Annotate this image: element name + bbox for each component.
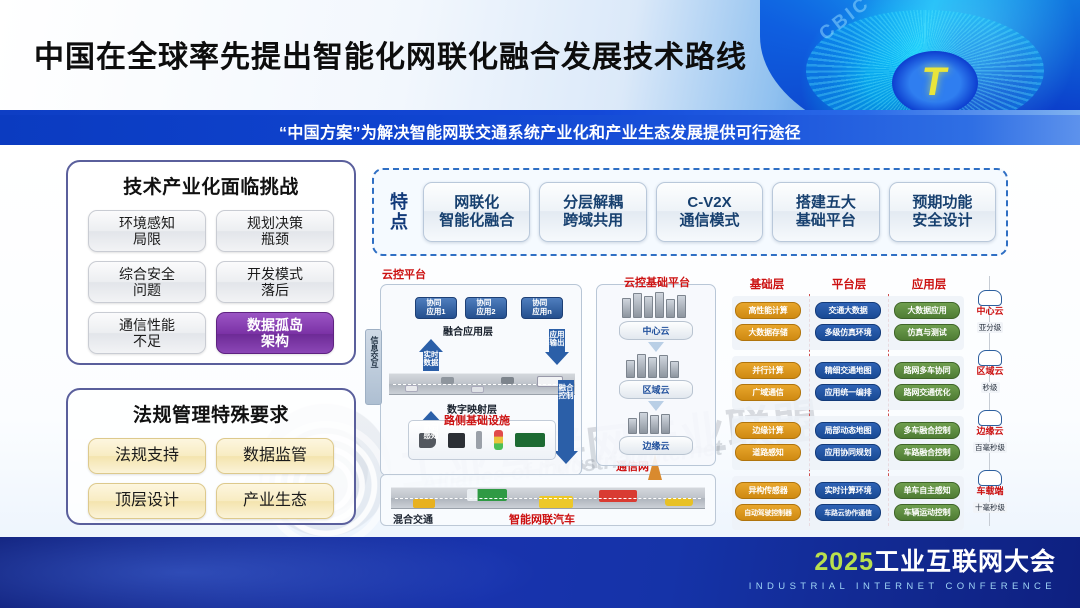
cell-platform: 应用协同规划	[815, 444, 881, 461]
cell-platform: 精细交通地图	[815, 362, 881, 379]
arrow-app-output-label: 应用输出	[545, 331, 569, 348]
cell-application: 路网多车协同	[894, 362, 960, 379]
challenge-chip[interactable]: 规划决策瓶颈	[216, 210, 334, 252]
label-mixed-traffic: 混合交通	[393, 511, 433, 526]
chip-label: 环境感知局限	[119, 215, 175, 247]
chip-label: 产业生态	[243, 492, 307, 510]
layer-capability-table: 基础层 平台层 应用层 高性能计算 大数据存储 交通大数据 多级仿真环境 大数据…	[732, 276, 964, 526]
feature-line1: 网联化	[454, 194, 499, 212]
arrow-collab-sense-label: 协同感知	[419, 424, 443, 441]
cell-application: 多车融合控制	[894, 422, 960, 439]
collab-app-box[interactable]: 协同应用1	[415, 297, 457, 319]
rail-latency: 百毫秒级	[973, 442, 1007, 453]
digital-map-road	[389, 373, 575, 395]
label-cloud-platform: 云控平台	[382, 266, 426, 282]
cell-platform: 车路云协作通信	[815, 504, 881, 521]
bus-icon	[539, 496, 573, 508]
panel-a-title: 技术产业化面临挑战	[68, 172, 354, 199]
regulation-chip[interactable]: 法规支持	[88, 438, 206, 474]
feature-line1: 搭建五大	[796, 194, 856, 212]
cell-base: 广域通信	[735, 384, 801, 401]
table-header-application: 应用层	[894, 276, 964, 292]
feature-strip: 特点 网联化 智能化融合 分层解耦 跨域共用 C-V2X 通信模式 搭建五大 基…	[372, 168, 1008, 256]
arrow-realtime-data-label: 实时数据	[419, 351, 443, 368]
challenge-chip[interactable]: 环境感知局限	[88, 210, 206, 252]
feature-box[interactable]: C-V2X 通信模式	[656, 182, 763, 242]
vehicle-icon	[501, 377, 514, 384]
feature-line1: 预期功能	[912, 194, 972, 212]
server-stack-icon	[622, 292, 686, 318]
radar-icon	[448, 433, 465, 448]
table-row: 边缘计算 道路感知 局部动态地图 应用协同规划 多车融合控制 车路融合控制	[732, 416, 964, 470]
table-row: 高性能计算 大数据存储 交通大数据 多级仿真环境 大数据应用 仿真与测试	[732, 296, 964, 350]
regulation-chip[interactable]: 顶层设计	[88, 483, 206, 519]
vehicle-icon	[471, 386, 484, 393]
page-title: 中国在全球率先提出智能化网联化融合发展技术路线	[34, 32, 747, 76]
panel-b-title: 法规管理特殊要求	[68, 400, 354, 427]
feature-line2: 安全设计	[912, 212, 972, 230]
rsu-antenna-icon	[476, 431, 482, 449]
cell-platform: 应用统一编排	[815, 384, 881, 401]
cell-base: 高性能计算	[735, 302, 801, 319]
feature-box[interactable]: 网联化 智能化融合	[423, 182, 530, 242]
cell-application: 车辆运动控制	[894, 504, 960, 521]
cell-platform: 交通大数据	[815, 302, 881, 319]
rail-name: 中心云	[972, 307, 1008, 317]
cell-base: 异构传感器	[735, 482, 801, 499]
chip-label: 开发模式落后	[247, 266, 303, 298]
chip-label: 法规支持	[115, 447, 179, 465]
feature-line1: 分层解耦	[563, 194, 623, 212]
cloud-center-icon	[978, 290, 1002, 306]
label-cloud-base-platform: 云控基础平台	[624, 274, 690, 290]
cell-base: 大数据存储	[735, 324, 801, 341]
table-header-platform: 平台层	[814, 276, 884, 292]
vehicle-icon	[441, 377, 454, 384]
vehicle-icon	[405, 385, 418, 392]
rail-item-vehicle-terminal[interactable]: 车载端 十毫秒级	[972, 470, 1008, 515]
rail-name: 边缘云	[972, 427, 1008, 437]
cell-application: 车路融合控制	[894, 444, 960, 461]
vms-board-icon	[515, 433, 545, 447]
conference-name-cn: 工业互联网大会	[874, 548, 1056, 576]
down-arrow-icon	[648, 342, 664, 352]
vehicle-icon	[413, 499, 435, 508]
slide-header: CBIC T 中国在全球率先提出智能化网联化融合发展技术路线	[0, 0, 1080, 114]
traffic-light-icon	[494, 430, 503, 450]
truck-icon	[467, 489, 507, 501]
cloud-region-icon	[978, 350, 1002, 366]
chip-label: 数据监管	[243, 447, 307, 465]
rail-latency: 亚分级	[977, 322, 1004, 333]
table-row: 异构传感器 自动驾驶控制器 实时计算环境 车路云协作通信 单车自主感知 车辆运动…	[732, 476, 964, 530]
challenge-chip[interactable]: 综合安全问题	[88, 261, 206, 303]
cell-application: 路网交通优化	[894, 384, 960, 401]
label-roadside-infrastructure: 路侧基础设施	[444, 412, 510, 428]
challenge-chip[interactable]: 开发模式落后	[216, 261, 334, 303]
feature-line2: 跨域共用	[563, 212, 623, 230]
cell-platform: 局部动态地图	[815, 422, 881, 439]
rail-latency: 秒级	[981, 382, 1000, 393]
table-row: 并行计算 广域通信 精细交通地图 应用统一编排 路网多车协同 路网交通优化	[732, 356, 964, 410]
regulation-chip[interactable]: 产业生态	[216, 483, 334, 519]
table-header-base: 基础层	[732, 276, 802, 292]
fire-truck-icon	[599, 490, 637, 502]
arrow-app-output: 应用输出	[545, 329, 569, 365]
cell-platform: 实时计算环境	[815, 482, 881, 499]
conference-logo: 2025工业互联网大会 INDUSTRIAL INTERNET CONFEREN…	[749, 550, 1056, 592]
mixed-traffic-road	[391, 487, 705, 509]
challenge-chip[interactable]: 通信性能不足	[88, 312, 206, 354]
feature-box[interactable]: 分层解耦 跨域共用	[539, 182, 646, 242]
server-stack-icon	[626, 354, 679, 378]
feature-strip-label: 特点	[384, 192, 414, 232]
rail-latency: 十毫秒级	[973, 502, 1007, 513]
down-arrow-icon	[648, 401, 664, 411]
mixed-traffic-box: 混合交通 智能网联汽车	[380, 474, 716, 526]
server-stack-icon	[628, 412, 670, 434]
cloud-center-node[interactable]: 中心云	[619, 321, 693, 340]
rail-item-center-cloud[interactable]: 中心云 亚分级	[972, 290, 1008, 335]
cloud-region-node[interactable]: 区域云	[619, 380, 693, 399]
architecture-diagram: 云控平台 信息交互 协同应用1 协同应用2 协同应用n 融合应用层 实时数据 应…	[372, 262, 1008, 530]
chip-label: 顶层设计	[115, 492, 179, 510]
feature-line1: C-V2X	[687, 194, 731, 212]
challenge-chip-highlighted[interactable]: 数据孤岛架构	[216, 312, 334, 354]
rail-name: 区域云	[972, 367, 1008, 377]
label-icv: 智能网联汽车	[509, 511, 575, 527]
subtitle-text: “中国方案”为解决智能网联交通系统产业化和产业生态发展提供可行途径	[0, 119, 1080, 143]
info-exchange-label: 信息交互	[366, 330, 383, 368]
info-exchange-tab: 信息交互	[365, 329, 382, 405]
cell-base: 边缘计算	[735, 422, 801, 439]
cell-application: 大数据应用	[894, 302, 960, 319]
chip-label: 通信性能不足	[119, 317, 175, 349]
feature-line2: 通信模式	[680, 212, 740, 230]
collab-app-box[interactable]: 协同应用n	[521, 297, 563, 319]
panel-regulatory-requirements: 法规管理特殊要求 法规支持 数据监管 顶层设计 产业生态	[66, 388, 356, 525]
feature-line2: 智能化融合	[439, 212, 514, 230]
panel-industrialization-challenges: 技术产业化面临挑战 环境感知局限 规划决策瓶颈 综合安全问题 开发模式落后 通信…	[66, 160, 356, 365]
cell-platform: 多级仿真环境	[815, 324, 881, 341]
cell-application: 仿真与测试	[894, 324, 960, 341]
collab-app-box[interactable]: 协同应用2	[465, 297, 507, 319]
rail-item-region-cloud[interactable]: 区域云 秒级	[972, 350, 1008, 395]
conference-name-en: INDUSTRIAL INTERNET CONFERENCE	[749, 581, 1056, 592]
vehicle-terminal-icon	[978, 470, 1002, 486]
cloud-edge-icon	[978, 410, 1002, 426]
cell-base: 自动驾驶控制器	[735, 504, 801, 521]
panel-b-chip-grid: 法规支持 数据监管 顶层设计 产业生态	[68, 427, 354, 519]
regulation-chip[interactable]: 数据监管	[216, 438, 334, 474]
cloud-edge-node[interactable]: 边缘云	[619, 436, 693, 455]
cell-base: 道路感知	[735, 444, 801, 461]
slide-root: CBIC T 中国在全球率先提出智能化网联化融合发展技术路线 “中国方案”为解决…	[0, 0, 1080, 608]
conference-year: 2025	[814, 548, 874, 576]
feature-box[interactable]: 预期功能 安全设计	[889, 182, 996, 242]
sports-car-icon	[665, 498, 693, 506]
arrow-realtime-data: 实时数据	[419, 339, 443, 371]
chip-label: 数据孤岛架构	[247, 317, 303, 349]
cell-application: 单车自主感知	[894, 482, 960, 499]
chip-label: 综合安全问题	[119, 266, 175, 298]
feature-line2: 基础平台	[796, 212, 856, 230]
arrow-fusion-control-label: 融合控制	[554, 384, 578, 401]
panel-a-chip-grid: 环境感知局限 规划决策瓶颈 综合安全问题 开发模式落后 通信性能不足 数据孤岛架…	[68, 199, 354, 354]
arrow-fusion-control: 融合控制	[554, 380, 578, 464]
rail-name: 车载端	[972, 487, 1008, 497]
subtitle-band: “中国方案”为解决智能网联交通系统产业化和产业生态发展提供可行途径	[0, 115, 1080, 145]
latency-rail: 中心云 亚分级 区域云 秒级 边缘云 百毫秒级 车载端 十毫秒级	[972, 276, 1008, 526]
cell-base: 并行计算	[735, 362, 801, 379]
label-fusion-app-layer: 融合应用层	[443, 323, 493, 338]
chip-label: 规划决策瓶颈	[247, 215, 303, 247]
rail-item-edge-cloud[interactable]: 边缘云 百毫秒级	[972, 410, 1008, 455]
slide-footer: 2025工业互联网大会 INDUSTRIAL INTERNET CONFEREN…	[0, 537, 1080, 608]
conference-logo-main: 2025工业互联网大会	[749, 550, 1056, 575]
feature-box[interactable]: 搭建五大 基础平台	[772, 182, 879, 242]
